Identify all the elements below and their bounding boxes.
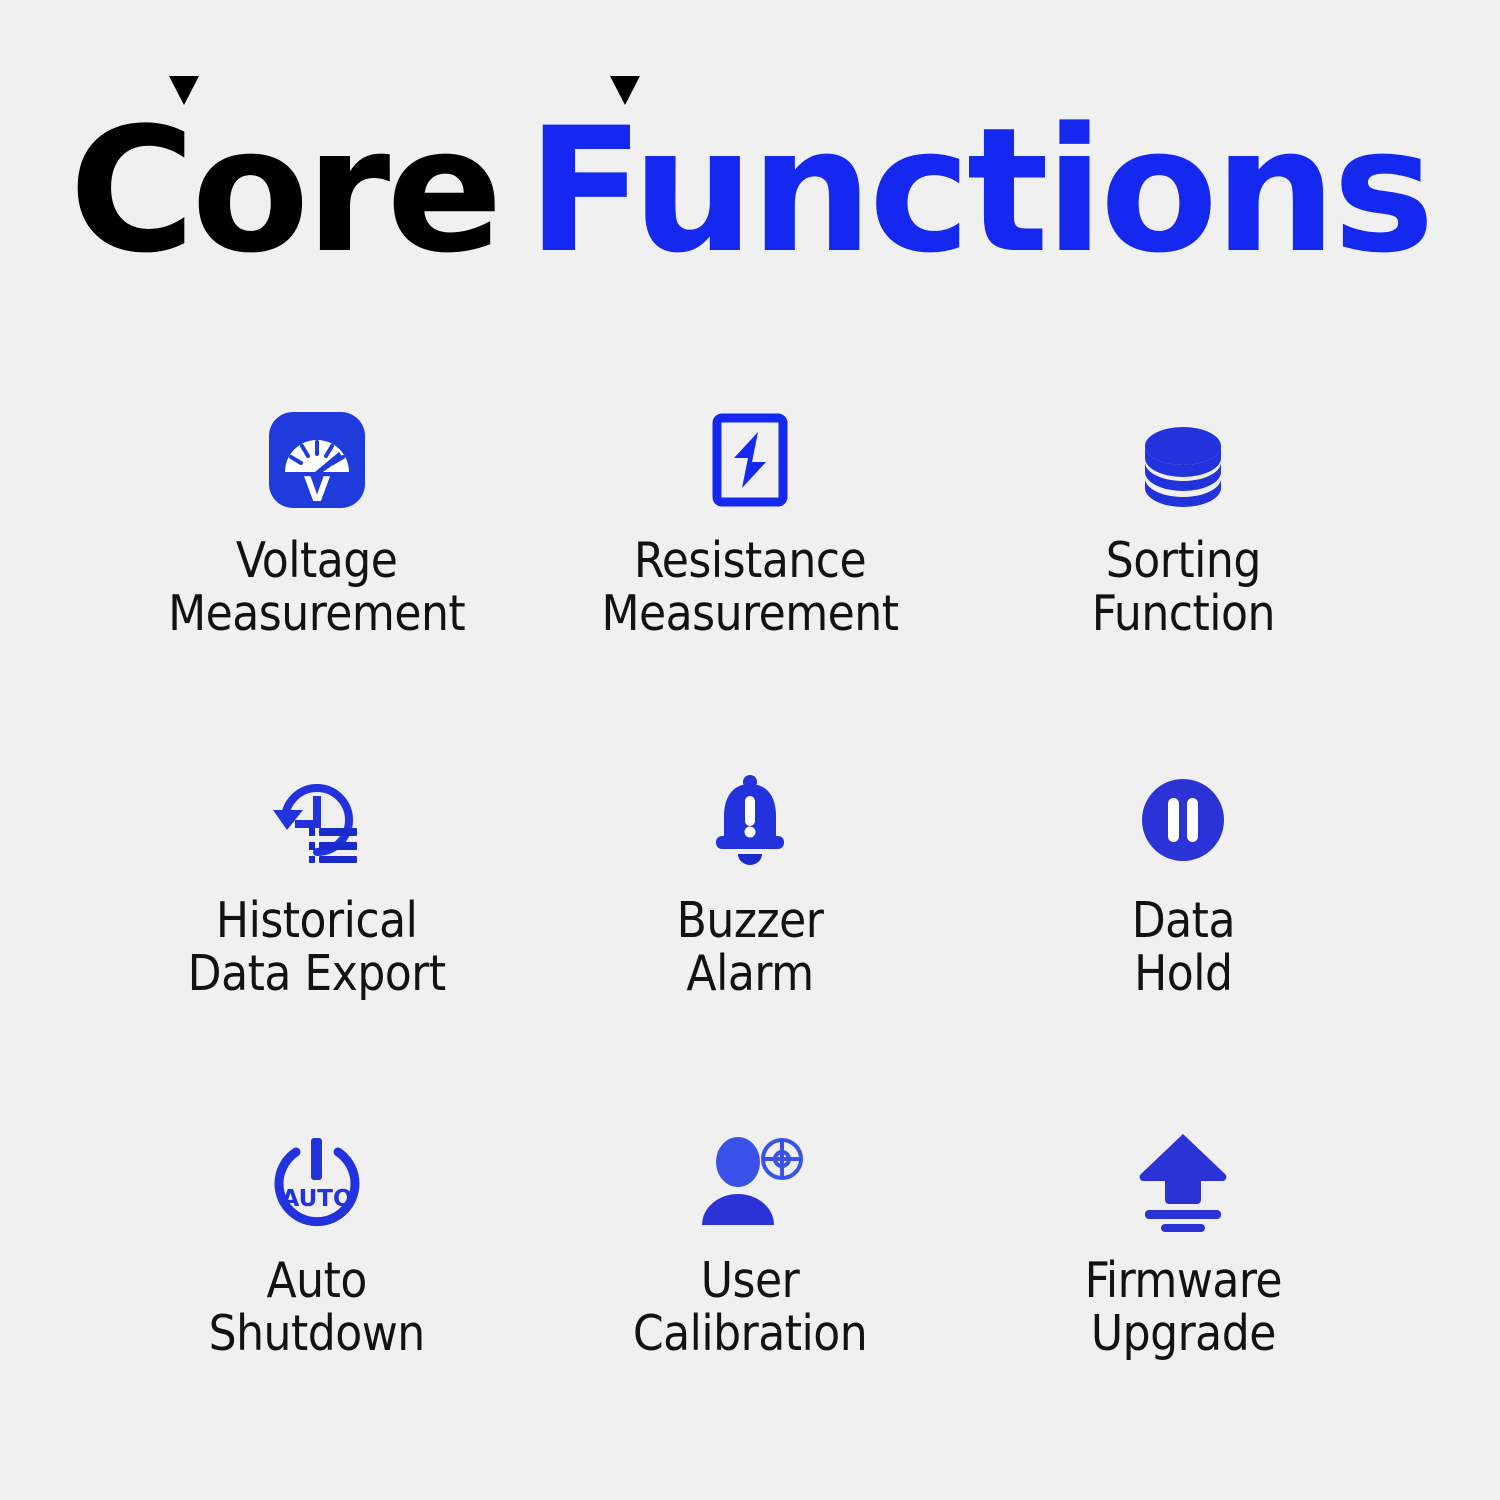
feature-card-resistance-measurement[interactable]: Resistance Measurement — [533, 395, 966, 755]
bell-alert-icon — [696, 755, 804, 885]
svg-text:V: V — [303, 470, 330, 510]
page-header: CoreFunctions — [0, 0, 1500, 330]
feature-card-auto-shutdown[interactable]: AUTO Auto Shutdown — [100, 1115, 533, 1475]
feature-label-buzzer-alarm: Buzzer Alarm — [677, 895, 824, 1001]
feature-label-user-calibration: User Calibration — [633, 1255, 867, 1361]
feature-card-sorting-function[interactable]: Sorting Function — [967, 395, 1400, 755]
feature-label-line2: Hold — [1132, 948, 1235, 1001]
feature-label-line2: Data Export — [188, 948, 446, 1001]
feature-label-line2: Measurement — [601, 588, 898, 641]
feature-card-buzzer-alarm[interactable]: Buzzer Alarm — [533, 755, 966, 1115]
feature-label-line2: Shutdown — [209, 1308, 425, 1361]
feature-label-firmware-upgrade: Firmware Upgrade — [1085, 1255, 1282, 1361]
feature-card-data-hold[interactable]: Data Hold — [967, 755, 1400, 1115]
feature-label-line1: Historical — [216, 892, 417, 949]
feature-label-line1: Resistance — [634, 532, 866, 589]
feature-label-line2: Function — [1092, 588, 1275, 641]
user-target-icon — [692, 1115, 807, 1245]
page-title-part-1: Core — [69, 90, 499, 291]
page-title-part-2: Functions — [527, 90, 1431, 291]
feature-card-firmware-upgrade[interactable]: Firmware Upgrade — [967, 1115, 1400, 1475]
page-title: CoreFunctions — [0, 105, 1500, 277]
voltage-gauge-icon: V — [263, 395, 371, 525]
feature-label-line1: Data — [1132, 892, 1235, 949]
feature-label-line2: Alarm — [677, 948, 824, 1001]
feature-card-historical-data-export[interactable]: Historical Data Export — [100, 755, 533, 1115]
feature-label-voltage-measurement: Voltage Measurement — [168, 535, 465, 641]
feature-grid: V Voltage Measurement Resistance Measure… — [100, 395, 1400, 1475]
lightning-bolt-square-icon — [696, 395, 804, 525]
feature-label-line1: User — [701, 1252, 800, 1309]
feature-label-resistance-measurement: Resistance Measurement — [601, 535, 898, 641]
pause-circle-icon — [1129, 755, 1237, 885]
feature-label-line1: Firmware — [1085, 1252, 1282, 1309]
feature-label-line1: Sorting — [1106, 532, 1261, 589]
feature-label-line1: Buzzer — [677, 892, 824, 949]
core-functions-page: CoreFunctions V — [0, 0, 1500, 1500]
feature-label-line2: Measurement — [168, 588, 465, 641]
feature-label-data-hold: Data Hold — [1132, 895, 1235, 1001]
feature-label-line1: Auto — [266, 1252, 366, 1309]
feature-card-user-calibration[interactable]: User Calibration — [533, 1115, 966, 1475]
clock-history-list-icon — [263, 755, 371, 885]
upload-arrow-icon — [1129, 1115, 1237, 1245]
feature-label-historical-data-export: Historical Data Export — [188, 895, 446, 1001]
database-stack-icon — [1129, 395, 1237, 525]
feature-label-auto-shutdown: Auto Shutdown — [209, 1255, 425, 1361]
feature-label-line2: Upgrade — [1085, 1308, 1282, 1361]
feature-card-voltage-measurement[interactable]: V Voltage Measurement — [100, 395, 533, 755]
power-auto-icon: AUTO — [263, 1115, 371, 1245]
feature-label-line1: Voltage — [236, 532, 397, 589]
feature-label-sorting-function: Sorting Function — [1092, 535, 1275, 641]
feature-label-line2: Calibration — [633, 1308, 867, 1361]
power-auto-label: AUTO — [281, 1186, 352, 1212]
